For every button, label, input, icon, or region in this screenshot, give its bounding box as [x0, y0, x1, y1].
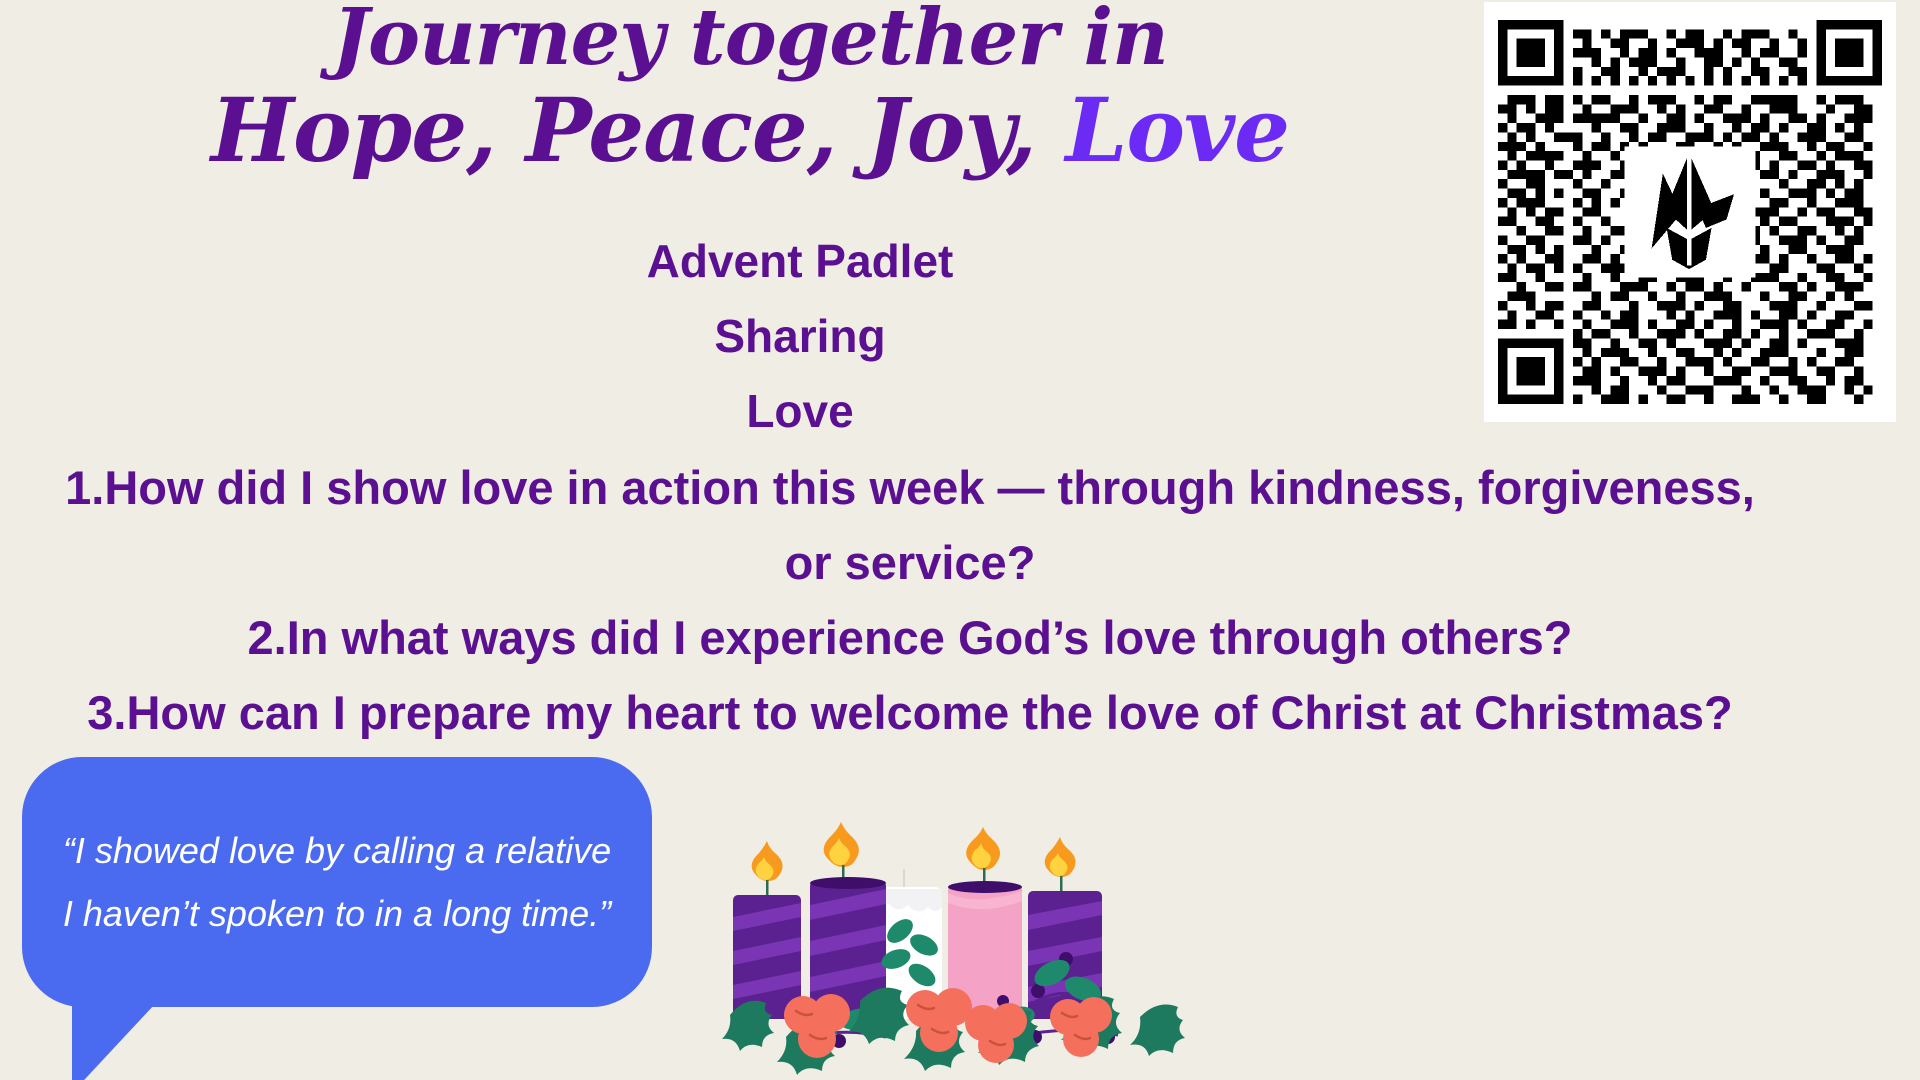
advent-wreath-svg — [700, 805, 1200, 1080]
slide-canvas: Journey together in Hope, Peace, Joy, Lo… — [0, 0, 1920, 1080]
question-item-1: 1.How did I show love in action this wee… — [60, 450, 1760, 600]
heading-sharing: Sharing — [0, 299, 1600, 374]
question-item-2: 2.In what ways did I experience God’s lo… — [60, 600, 1760, 675]
slide-title: Journey together in Hope, Peace, Joy, Lo… — [0, 0, 1500, 176]
headings-block: Advent Padlet Sharing Love — [0, 224, 1600, 449]
title-line-2-prefix: Hope, Peace, Joy, — [211, 78, 1036, 182]
advent-wreath-illustration — [700, 805, 1200, 1080]
speech-bubble: “I showed love by calling a relative I h… — [22, 757, 652, 1007]
question-item-3: 3.How can I prepare my heart to welcome … — [60, 675, 1760, 750]
heading-love: Love — [0, 374, 1600, 449]
title-highlight-love: Love — [1065, 78, 1289, 182]
heading-advent-padlet: Advent Padlet — [0, 224, 1600, 299]
title-line-2: Hope, Peace, Joy, Love — [0, 84, 1500, 176]
reflection-questions: 1.How did I show love in action this wee… — [60, 450, 1760, 750]
purple-candle-second — [810, 822, 886, 1019]
title-line-1: Journey together in — [0, 0, 1500, 84]
purple-candle-left — [733, 841, 801, 1019]
speech-bubble-text: “I showed love by calling a relative I h… — [22, 819, 652, 945]
